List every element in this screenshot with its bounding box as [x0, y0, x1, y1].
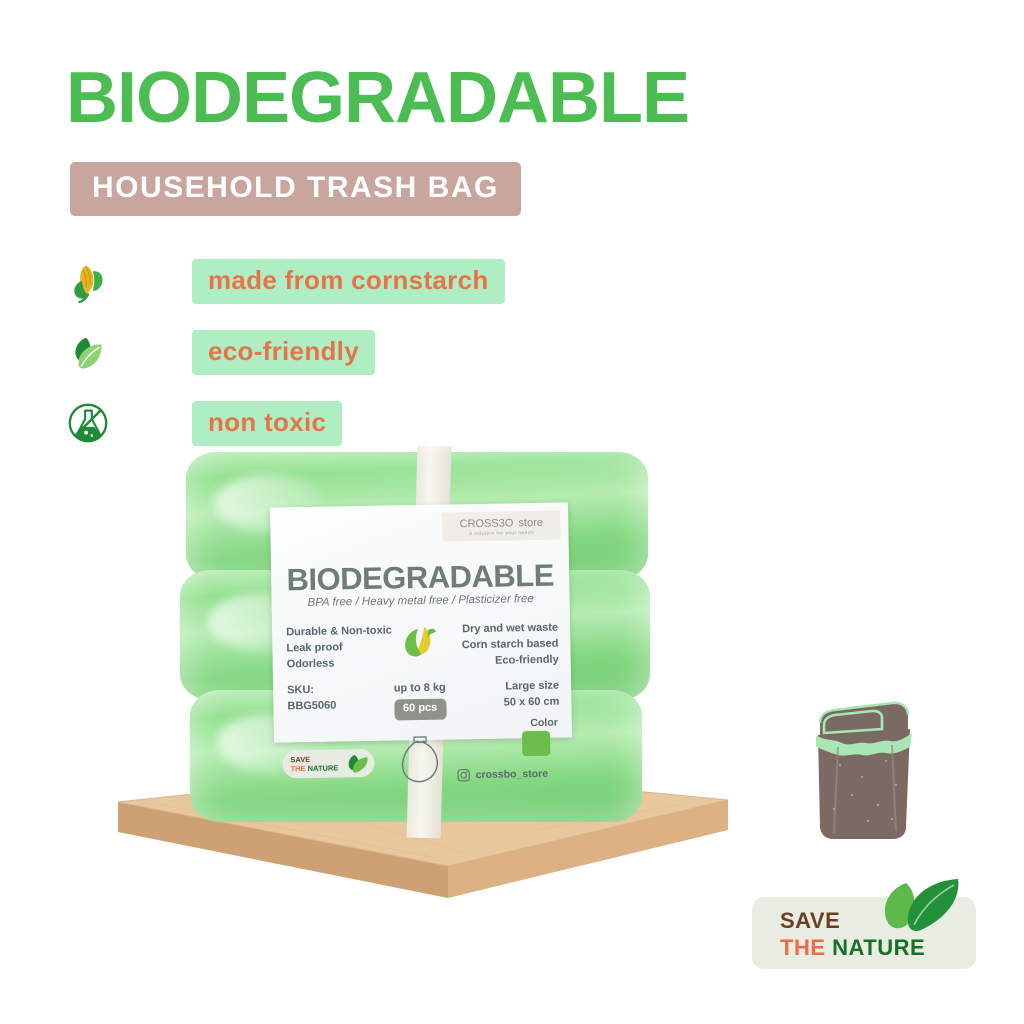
leaf-icon-small: [342, 751, 370, 775]
brand-name: CROSS3O store: [446, 514, 556, 531]
instagram-link[interactable]: crossbo_store: [457, 767, 549, 783]
corn-icon-label: [394, 621, 439, 664]
sku-block: SKU: BBG5060: [287, 682, 336, 715]
leaf-icon: [60, 324, 116, 380]
trash-bin-illustration: [800, 685, 920, 845]
size-label: Large size: [503, 679, 559, 696]
instagram-icon: [457, 768, 471, 782]
feature-item-cornstarch: made from cornstarch: [60, 253, 505, 309]
trash-bag-icon: [392, 733, 449, 786]
brand-tagline: A solution for your needs: [446, 530, 556, 538]
brand-logo: CROSS3O store A solution for your needs: [442, 511, 560, 542]
label-specs: SKU: BBG5060 up to 8 kg 60 pcs Large siz…: [287, 679, 560, 723]
leaf-icon-badge: [862, 875, 972, 945]
size-value: 50 x 60 cm: [504, 695, 560, 712]
feature-label: eco-friendly: [192, 330, 375, 375]
capacity-block: up to 8 kg 60 pcs: [394, 681, 447, 721]
label-save-the-nature-badge: SAVE THE NATURE: [282, 749, 374, 779]
poster-canvas: BIODEGRADABLE HOUSEHOLD TRASH BAG made f…: [0, 0, 1024, 1024]
sku-value: BBG5060: [287, 698, 336, 715]
sku-label: SKU:: [287, 682, 336, 699]
subtitle-pill: HOUSEHOLD TRASH BAG: [70, 162, 521, 216]
capacity-value: up to 8 kg: [394, 681, 447, 698]
page-title: BIODEGRADABLE: [66, 62, 689, 134]
label-title: BIODEGRADABLE: [285, 558, 556, 599]
color-swatch: [522, 731, 550, 756]
feature-item-non-toxic: non toxic: [60, 395, 342, 451]
label-features-left: Durable & Non-toxic Leak proof Odorless: [286, 624, 393, 674]
corn-icon: [60, 253, 116, 309]
badge-save-text: SAVE: [780, 908, 840, 934]
instagram-handle: crossbo_store: [476, 768, 549, 781]
color-label: Color: [530, 717, 558, 729]
save-the-nature-badge: SAVE THE NATURE: [752, 897, 976, 969]
label-features-right: Dry and wet waste Corn starch based Eco-…: [461, 621, 558, 670]
size-block: Large size 50 x 60 cm: [503, 679, 559, 712]
feature-label: made from cornstarch: [192, 259, 505, 304]
no-chemicals-icon: [60, 395, 116, 451]
feature-label: non toxic: [192, 401, 342, 446]
quantity-badge: 60 pcs: [394, 699, 447, 721]
badge-line-the-nature: THE NATURE: [290, 763, 338, 773]
product-label: CROSS3O store A solution for your needs …: [270, 502, 572, 742]
feature-item-eco-friendly: eco-friendly: [60, 324, 375, 380]
product-package: CROSS3O store CROSS3O store A solution f…: [180, 452, 660, 834]
